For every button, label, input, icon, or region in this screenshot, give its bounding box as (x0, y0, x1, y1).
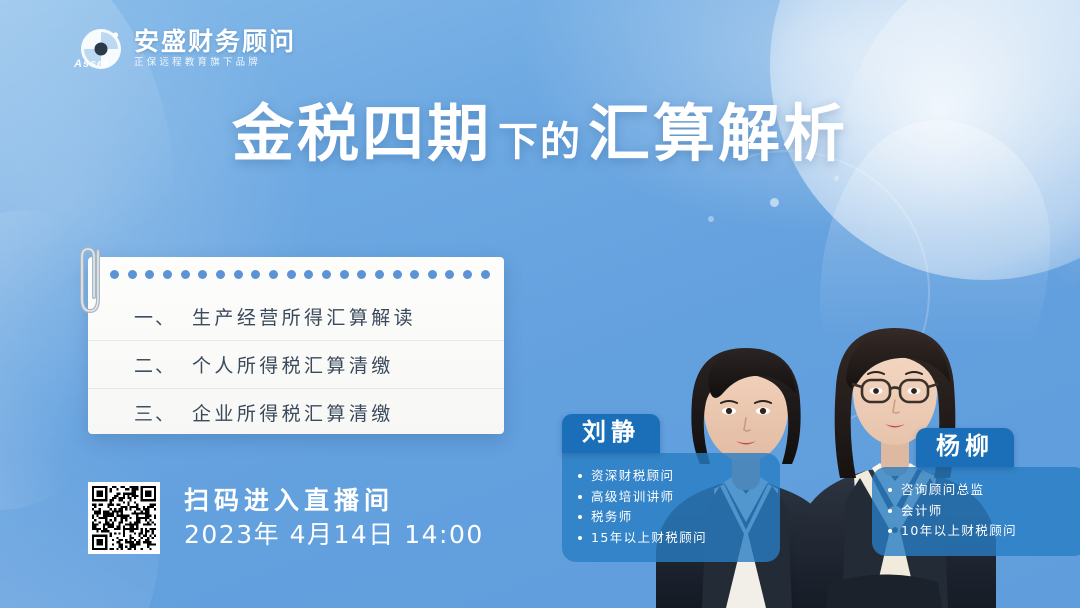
credential-label: 咨询顾问总监 (901, 484, 984, 497)
agenda-list: 一、 生产经营所得汇算解读 二、 个人所得税汇算清缴 三、 企业所得税汇算清缴 (88, 293, 504, 436)
agenda-item-label: 生产经营所得汇算解读 (192, 303, 416, 330)
qr-code-icon[interactable] (88, 482, 160, 554)
agenda-dot-strip (110, 269, 490, 279)
cta-headline: 扫码进入直播间 (184, 489, 484, 514)
poster-canvas: 安盛财务顾问 正保远程教育旗下品牌 Asset 金税四期下的汇算解析 一、 生产… (0, 0, 1080, 608)
brand-logo: 安盛财务顾问 正保远程教育旗下品牌 (78, 26, 296, 72)
speaker-card-2: 杨柳 咨询顾问总监 会计师 10年以上财税顾问 (872, 428, 1080, 556)
title-part-3: 汇算解析 (588, 100, 848, 169)
brand-tagline: 正保远程教育旗下品牌 (134, 58, 296, 68)
credential-label: 资深财税顾问 (591, 470, 674, 483)
credential-label: 10年以上财税顾问 (901, 525, 1017, 538)
agenda-item-number: 三、 (134, 399, 176, 426)
page-title: 金税四期下的汇算解析 (0, 104, 1080, 166)
cta-row: 扫码进入直播间 2023年 4月14日 14:00 (88, 482, 484, 554)
agenda-item-label: 个人所得税汇算清缴 (192, 351, 394, 378)
credential-item: 10年以上财税顾问 (888, 521, 1068, 542)
cta-datetime: 2023年 4月14日 14:00 (184, 522, 484, 547)
speaker-2-credentials: 咨询顾问总监 会计师 10年以上财税顾问 (872, 467, 1080, 556)
credential-label: 15年以上财税顾问 (591, 532, 707, 545)
agenda-item-label: 企业所得税汇算清缴 (192, 399, 394, 426)
brand-name: 安盛财务顾问 (134, 30, 296, 55)
agenda-card: 一、 生产经营所得汇算解读 二、 个人所得税汇算清缴 三、 企业所得税汇算清缴 (88, 257, 504, 434)
brand-latin-name: Asset (74, 58, 109, 70)
speaker-2-name: 杨柳 (916, 428, 1014, 467)
credential-item: 资深财税顾问 (578, 466, 760, 487)
speaker-1-name: 刘静 (562, 414, 660, 453)
title-part-2: 下的 (498, 120, 582, 164)
agenda-item: 三、 企业所得税汇算清缴 (88, 389, 504, 436)
agenda-item-number: 一、 (134, 303, 176, 330)
credential-label: 税务师 (591, 511, 633, 524)
agenda-item-number: 二、 (134, 351, 176, 378)
credential-item: 15年以上财税顾问 (578, 528, 760, 549)
credential-item: 咨询顾问总监 (888, 480, 1068, 501)
credential-label: 会计师 (901, 505, 943, 518)
credential-label: 高级培训讲师 (591, 491, 674, 504)
agenda-item: 一、 生产经营所得汇算解读 (88, 293, 504, 341)
speaker-1-credentials: 资深财税顾问 高级培训讲师 税务师 15年以上财税顾问 (562, 453, 780, 562)
credential-item: 高级培训讲师 (578, 487, 760, 508)
agenda-item: 二、 个人所得税汇算清缴 (88, 341, 504, 389)
credential-item: 税务师 (578, 507, 760, 528)
credential-item: 会计师 (888, 501, 1068, 522)
speaker-card-1: 刘静 资深财税顾问 高级培训讲师 税务师 15年以上财税顾问 (562, 414, 780, 562)
title-part-1: 金税四期 (232, 100, 492, 169)
